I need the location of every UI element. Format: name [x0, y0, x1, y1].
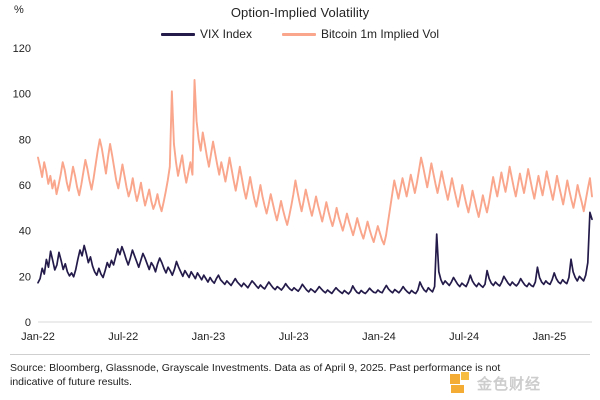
x-tick-label: Jan-23	[192, 331, 226, 343]
chart-screenshot: % Option-Implied Volatility VIX Index Bi…	[0, 0, 600, 400]
series-line-btc-iv	[38, 80, 592, 244]
y-tick-label: 80	[19, 134, 31, 146]
plot-area: 020406080100120Jan-22Jul-22Jan-23Jul-23J…	[0, 0, 600, 400]
series-line-vix	[38, 212, 592, 294]
y-tick-label: 0	[25, 317, 31, 329]
x-tick-label: Jul-23	[279, 331, 309, 343]
x-tick-label: Jan-22	[21, 331, 55, 343]
x-tick-label: Jul-24	[449, 331, 479, 343]
y-tick-label: 60	[19, 180, 31, 192]
x-tick-label: Jul-22	[108, 331, 138, 343]
x-tick-label: Jan-25	[533, 331, 567, 343]
footer-divider	[10, 354, 590, 355]
y-tick-label: 100	[13, 89, 31, 101]
footer-line-2: indicative of future results.	[10, 375, 590, 389]
x-tick-label: Jan-24	[362, 331, 396, 343]
y-tick-label: 120	[13, 43, 31, 55]
y-tick-label: 20	[19, 271, 31, 283]
footer-line-1: Source: Bloomberg, Glassnode, Grayscale …	[10, 361, 590, 375]
y-tick-label: 40	[19, 226, 31, 238]
footer-note: Source: Bloomberg, Glassnode, Grayscale …	[10, 361, 590, 389]
chart-svg: 020406080100120Jan-22Jul-22Jan-23Jul-23J…	[0, 0, 600, 400]
